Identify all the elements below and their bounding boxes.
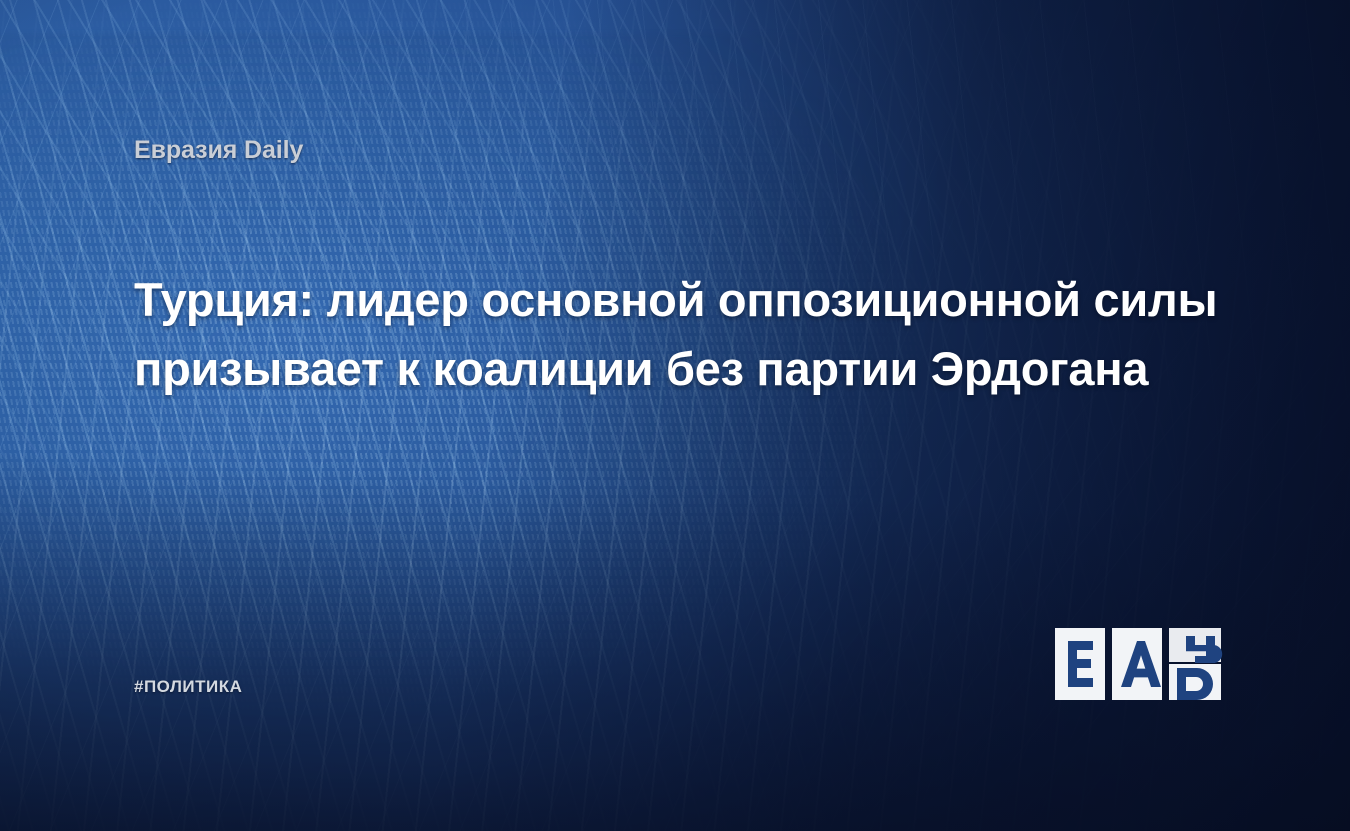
ead-logo xyxy=(1055,628,1225,700)
news-cover-card: Евразия Daily Турция: лидер основной опп… xyxy=(0,0,1350,831)
page-title: Турция: лидер основной оппозиционной сил… xyxy=(134,266,1224,403)
brand-name: Евразия Daily xyxy=(134,136,303,165)
category-tag: #ПОЛИТИКА xyxy=(134,677,242,697)
card-content: Евразия Daily Турция: лидер основной опп… xyxy=(0,0,1350,831)
